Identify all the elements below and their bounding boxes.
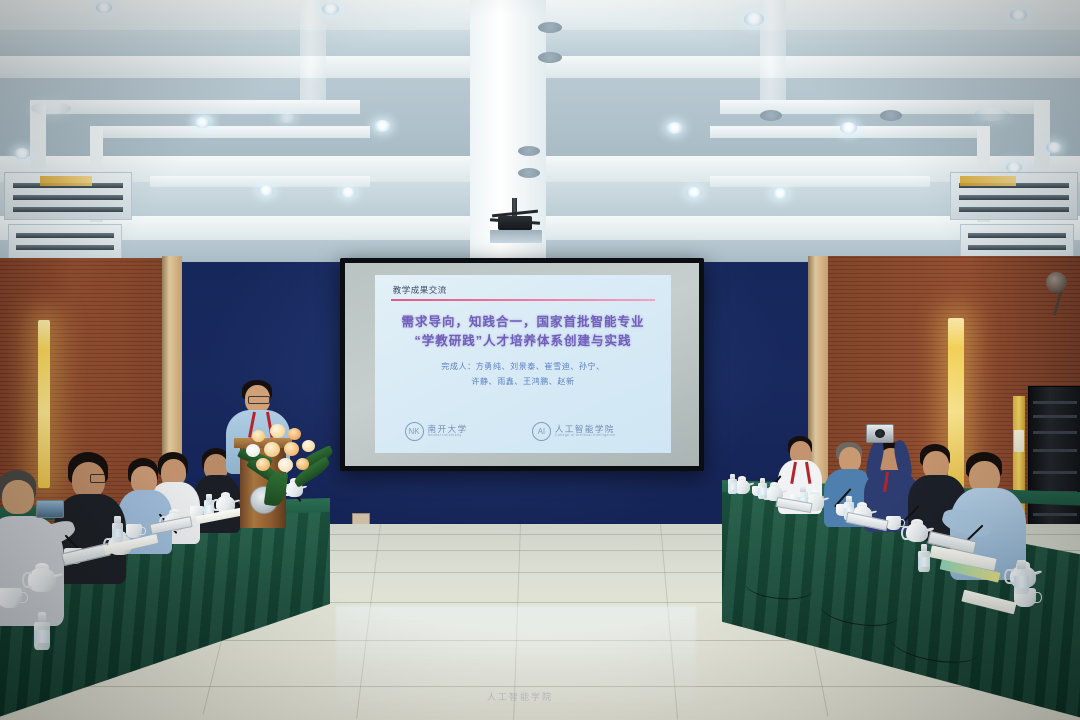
nankai-logo-mark: NK [405,422,424,441]
slide-content: 教学成果交流 需求导向，知践合一，国家首批智能专业 “学教研践”人才培养体系创建… [375,275,671,453]
ac-vent-right-2 [960,224,1074,260]
cup-left-5 [0,588,22,608]
cup-left-3 [126,524,142,538]
slide-header-label: 教学成果交流 [393,284,447,296]
slide-authors-line1: 完成人：方勇纯、刘景泰、崔雪迪、孙宁、 [393,361,654,372]
ai-college-logo-mark: AI [532,422,551,441]
teapot-right-5 [906,518,928,545]
bottle-right-1 [728,474,737,494]
slide-title-line2: “学教研践”人才培养体系创建与实践 [387,330,659,349]
projector-icon [498,216,532,230]
bottle-right-6 [1014,560,1029,594]
bottle-right-2 [758,478,767,499]
glasses-icon [90,474,106,483]
projector-plate [490,230,542,243]
wall-light-strip-right [948,318,964,488]
teapot-left-5 [28,562,56,595]
phone-held-by-attendee [36,500,64,518]
nankai-logo-en: Nankai University [428,434,468,438]
slide-divider-rule [391,299,654,301]
bottle-left-3 [112,516,123,542]
logo-nankai-university: NK 南开大学 Nankai University [405,422,468,441]
camera-icon [866,424,894,443]
wall-speaker-icon [1046,272,1067,293]
logo-college-ai: AI 人工智能学院 College of Artificial Intellig… [532,422,616,441]
projection-screen: 教学成果交流 需求导向，知践合一，国家首批智能专业 “学教研践”人才培养体系创建… [340,258,704,471]
bottle-left-4 [34,612,50,650]
floor-reflection-text: 人工智能学院 [420,690,620,703]
wall-light-strip-left [38,320,50,488]
slide-authors-line2: 许静、雨鑫、王鸿鹏、赵新 [393,376,654,387]
cup-right-4 [886,516,901,530]
bottle-right-5 [918,544,930,572]
ai-college-logo-en: College of Artificial Intelligence [555,434,616,438]
ac-vent-left-2 [8,224,122,260]
presenter-glasses-icon [248,396,270,404]
conference-hall-photo: 教学成果交流 需求导向，知践合一，国家首批智能专业 “学教研践”人才培养体系创建… [0,0,1080,720]
slide-title-line1: 需求导向，知践合一，国家首批智能专业 [387,311,659,330]
ceiling [0,0,1080,262]
